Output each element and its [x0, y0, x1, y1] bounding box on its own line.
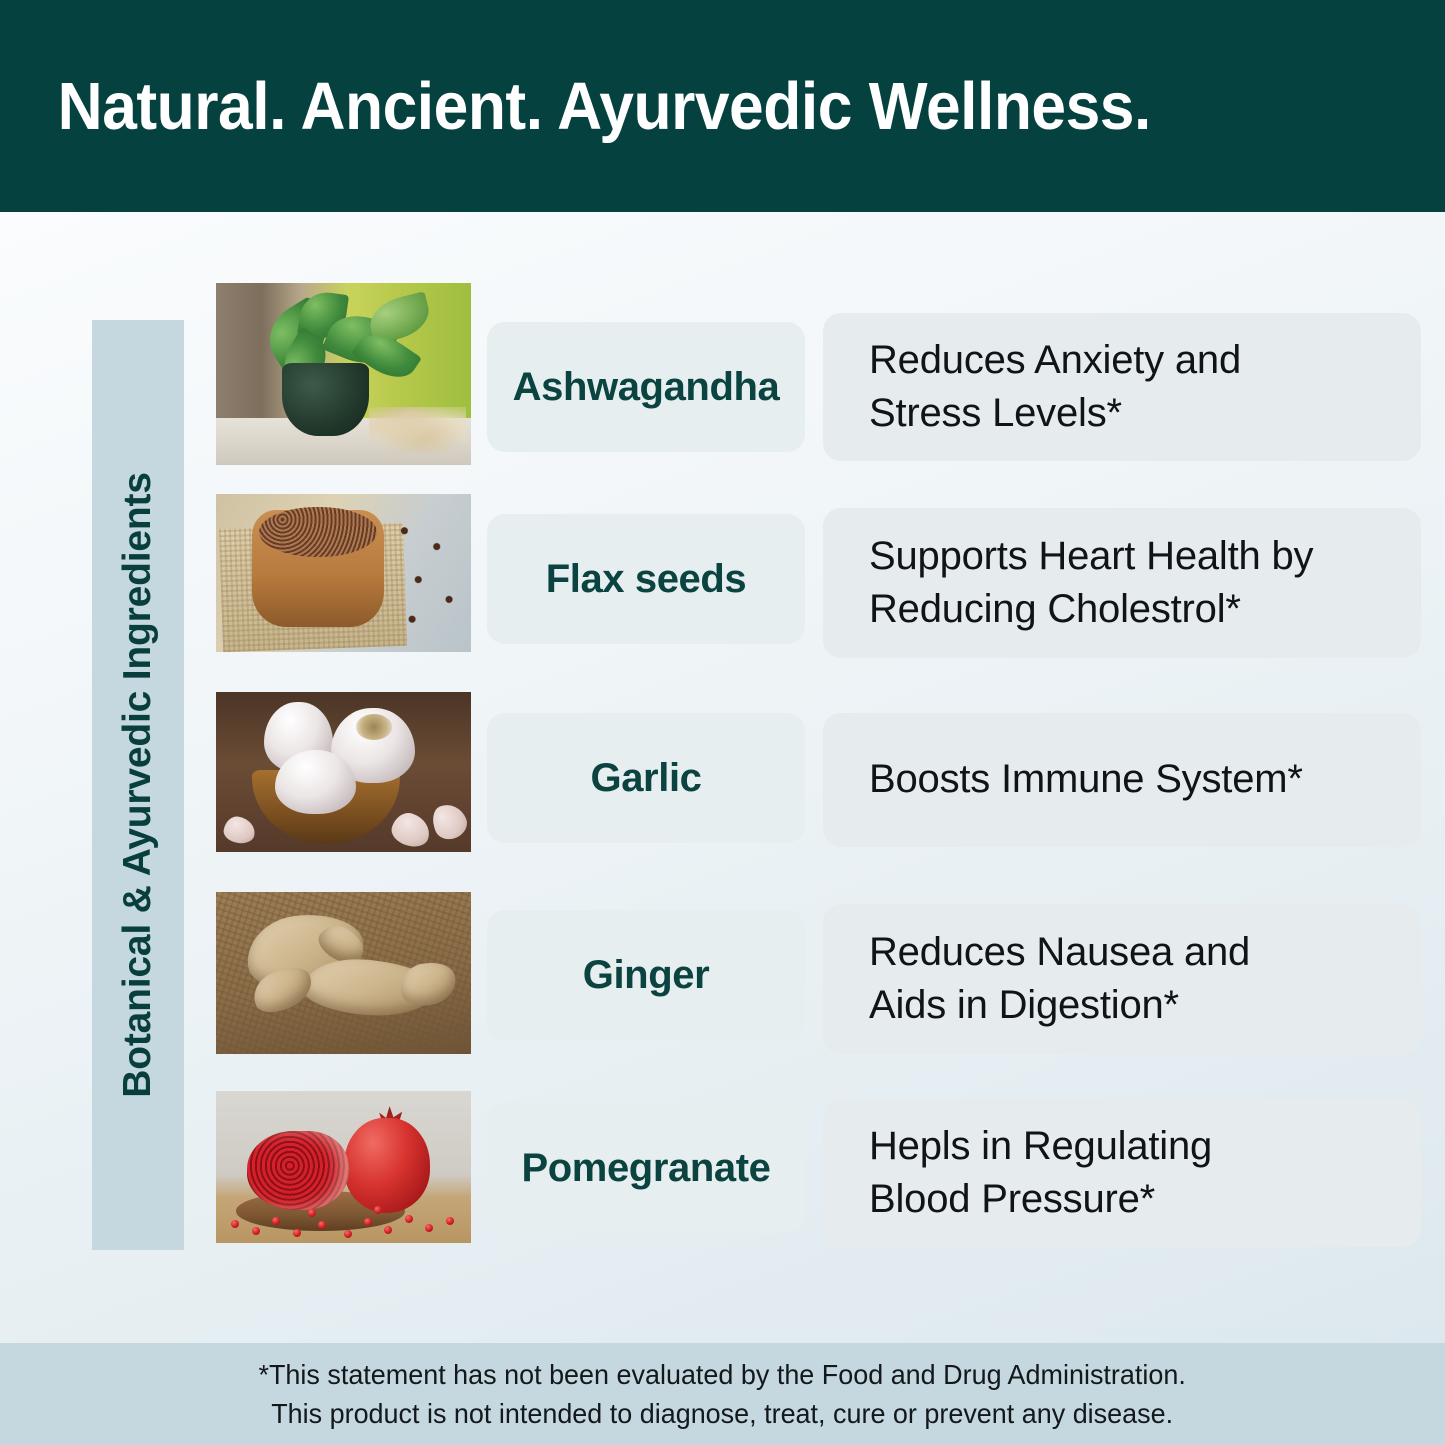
- benefit-line: Boosts Immune System*: [869, 757, 1303, 801]
- ingredient-image-pomegranate: [216, 1091, 471, 1243]
- ingredient-benefit-text: Hepls in Regulating Blood Pressure*: [869, 1120, 1212, 1226]
- ingredient-benefit-text: Reduces Anxiety and Stress Levels*: [869, 334, 1241, 440]
- ingredient-name: Flax seeds: [546, 557, 747, 602]
- ingredient-name: Ashwagandha: [513, 365, 780, 410]
- ingredient-name: Ginger: [583, 953, 710, 998]
- ingredient-name-pill: Pomegranate: [487, 1103, 805, 1233]
- ingredient-name-pill: Ginger: [487, 910, 805, 1040]
- benefit-line: Reduces Anxiety and: [869, 338, 1241, 382]
- ingredient-image-ginger: [216, 892, 471, 1054]
- ingredient-benefit-box: Hepls in Regulating Blood Pressure*: [823, 1099, 1421, 1247]
- footer-disclaimer: *This statement has not been evaluated b…: [0, 1343, 1445, 1445]
- ingredient-image-garlic: [216, 692, 471, 852]
- benefit-line: Aids in Digestion*: [869, 983, 1179, 1027]
- benefit-line: Reduces Nausea and: [869, 930, 1250, 974]
- ingredient-row: Ginger Reduces Nausea and Aids in Digest…: [0, 874, 1445, 1071]
- benefit-line: Supports Heart Health by: [869, 534, 1313, 578]
- ingredient-benefit-box: Boosts Immune System*: [823, 713, 1421, 847]
- ingredient-infographic-page: Natural. Ancient. Ayurvedic Wellness. Bo…: [0, 0, 1445, 1445]
- ingredient-benefit-text: Reduces Nausea and Aids in Digestion*: [869, 926, 1250, 1032]
- disclaimer-line-1: *This statement has not been evaluated b…: [259, 1355, 1186, 1394]
- benefit-line: Reducing Cholestrol*: [869, 587, 1241, 631]
- benefit-line: Blood Pressure*: [869, 1177, 1155, 1221]
- ingredient-row: Flax seeds Supports Heart Health by Redu…: [0, 480, 1445, 677]
- ingredient-name: Pomegranate: [521, 1146, 770, 1191]
- ingredient-benefit-box: Reduces Nausea and Aids in Digestion*: [823, 904, 1421, 1054]
- ingredient-row: Ashwagandha Reduces Anxiety and Stress L…: [0, 283, 1445, 480]
- ingredient-name: Garlic: [591, 756, 702, 801]
- ingredient-image-flax-seeds: [216, 494, 471, 652]
- ingredient-name-pill: Flax seeds: [487, 514, 805, 644]
- ingredient-benefit-text: Boosts Immune System*: [869, 753, 1303, 806]
- ingredient-name-pill: Garlic: [487, 713, 805, 843]
- disclaimer-line-2: This product is not intended to diagnose…: [272, 1394, 1174, 1433]
- ingredient-name-pill: Ashwagandha: [487, 322, 805, 452]
- benefit-line: Hepls in Regulating: [869, 1124, 1212, 1168]
- header-banner: Natural. Ancient. Ayurvedic Wellness.: [0, 0, 1445, 212]
- ingredient-benefit-box: Reduces Anxiety and Stress Levels*: [823, 313, 1421, 461]
- benefit-line: Stress Levels*: [869, 391, 1122, 435]
- ingredient-benefit-text: Supports Heart Health by Reducing Choles…: [869, 530, 1313, 636]
- ingredient-row: Pomegranate Hepls in Regulating Blood Pr…: [0, 1071, 1445, 1268]
- ingredient-row: Garlic Boosts Immune System*: [0, 677, 1445, 874]
- ingredient-list: Ashwagandha Reduces Anxiety and Stress L…: [0, 283, 1445, 1268]
- ingredient-benefit-box: Supports Heart Health by Reducing Choles…: [823, 508, 1421, 658]
- ingredient-image-ashwagandha: [216, 283, 471, 465]
- page-title: Natural. Ancient. Ayurvedic Wellness.: [0, 68, 1151, 145]
